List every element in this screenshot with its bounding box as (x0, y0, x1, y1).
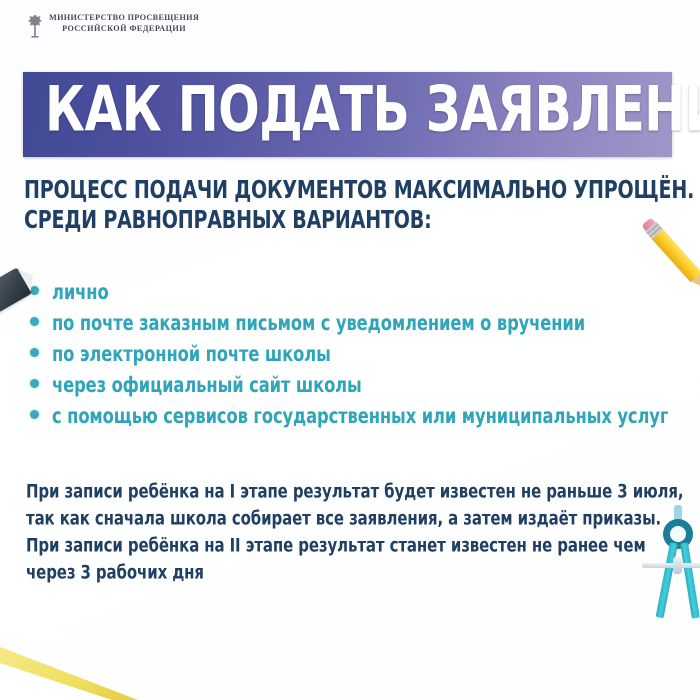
list-item: по электронной почте школы (30, 344, 680, 375)
ministry-logo-line-2: РОССИЙСКОЙ ФЕДЕРАЦИИ (62, 24, 186, 33)
subtitle-block: ПРОЦЕСС ПОДАЧИ ДОКУМЕНТОВ МАКСИМАЛЬНО УП… (24, 176, 674, 236)
footnote-line-3: При записи ребёнка на II этапе результат… (26, 531, 670, 561)
page-title: КАК ПОДАТЬ ЗАЯВЛЕНИЕ? (45, 79, 700, 142)
list-item: через официальный сайт школы (30, 375, 680, 406)
bullet-dot-icon (30, 379, 39, 388)
list-item-label: лично (52, 281, 109, 305)
options-list: лично по почте заказным письмом с уведом… (30, 282, 680, 437)
footnote-block: При записи ребёнка на I этапе результат … (26, 478, 676, 586)
triangle-ruler-icon (0, 618, 192, 700)
pencil-body-part (652, 229, 700, 282)
ministry-logo-line-1: МИНИСТЕРСТВО ПРОСВЕЩЕНИЯ (49, 13, 199, 22)
subtitle-line-1: ПРОЦЕСС ПОДАЧИ ДОКУМЕНТОВ МАКСИМАЛЬНО УП… (24, 176, 674, 206)
list-item-label: по электронной почте школы (52, 343, 331, 367)
list-item-label: по почте заказным письмом с уведомлением… (52, 312, 585, 336)
poster-canvas: МИНИСТЕРСТВО ПРОСВЕЩЕНИЯ РОССИЙСКОЙ ФЕДЕ… (0, 0, 700, 700)
list-item: по почте заказным письмом с уведомлением… (30, 313, 680, 344)
compass-crossbar-knob-part (673, 557, 682, 574)
eraser-icon (0, 267, 33, 315)
list-item: с помощью сервисов государственных или м… (30, 406, 680, 437)
drafting-compass-icon (636, 505, 700, 620)
double-headed-eagle-emblem-icon (27, 13, 43, 39)
list-item-label: с помощью сервисов государственных или м… (52, 405, 668, 429)
bullet-dot-icon (30, 317, 39, 326)
compass-head-part (663, 519, 693, 549)
footnote-line-2: так как сначала школа собирает все заявл… (26, 504, 670, 534)
headline-banner: КАК ПОДАТЬ ЗАЯВЛЕНИЕ? (23, 72, 672, 157)
subtitle-line-2: СРЕДИ РАВНОПРАВНЫХ ВАРИАНТОВ: (24, 206, 674, 236)
list-item-label: через официальный сайт школы (52, 374, 362, 398)
list-item: лично (30, 282, 680, 313)
ministry-logo-text: МИНИСТЕРСТВО ПРОСВЕЩЕНИЯ РОССИЙСКОЙ ФЕДЕ… (49, 12, 199, 34)
compass-left-leg-part (656, 542, 678, 618)
bullet-dot-icon (30, 348, 39, 357)
compass-right-leg-part (680, 542, 700, 618)
footnote-line-1: При записи ребёнка на I этапе результат … (26, 477, 670, 507)
footnote-line-4: через 3 рабочих дня (26, 558, 670, 588)
ministry-logo: МИНИСТЕРСТВО ПРОСВЕЩЕНИЯ РОССИЙСКОЙ ФЕДЕ… (27, 12, 199, 39)
compass-crossbar-part (642, 563, 700, 568)
bullet-dot-icon (30, 410, 39, 419)
